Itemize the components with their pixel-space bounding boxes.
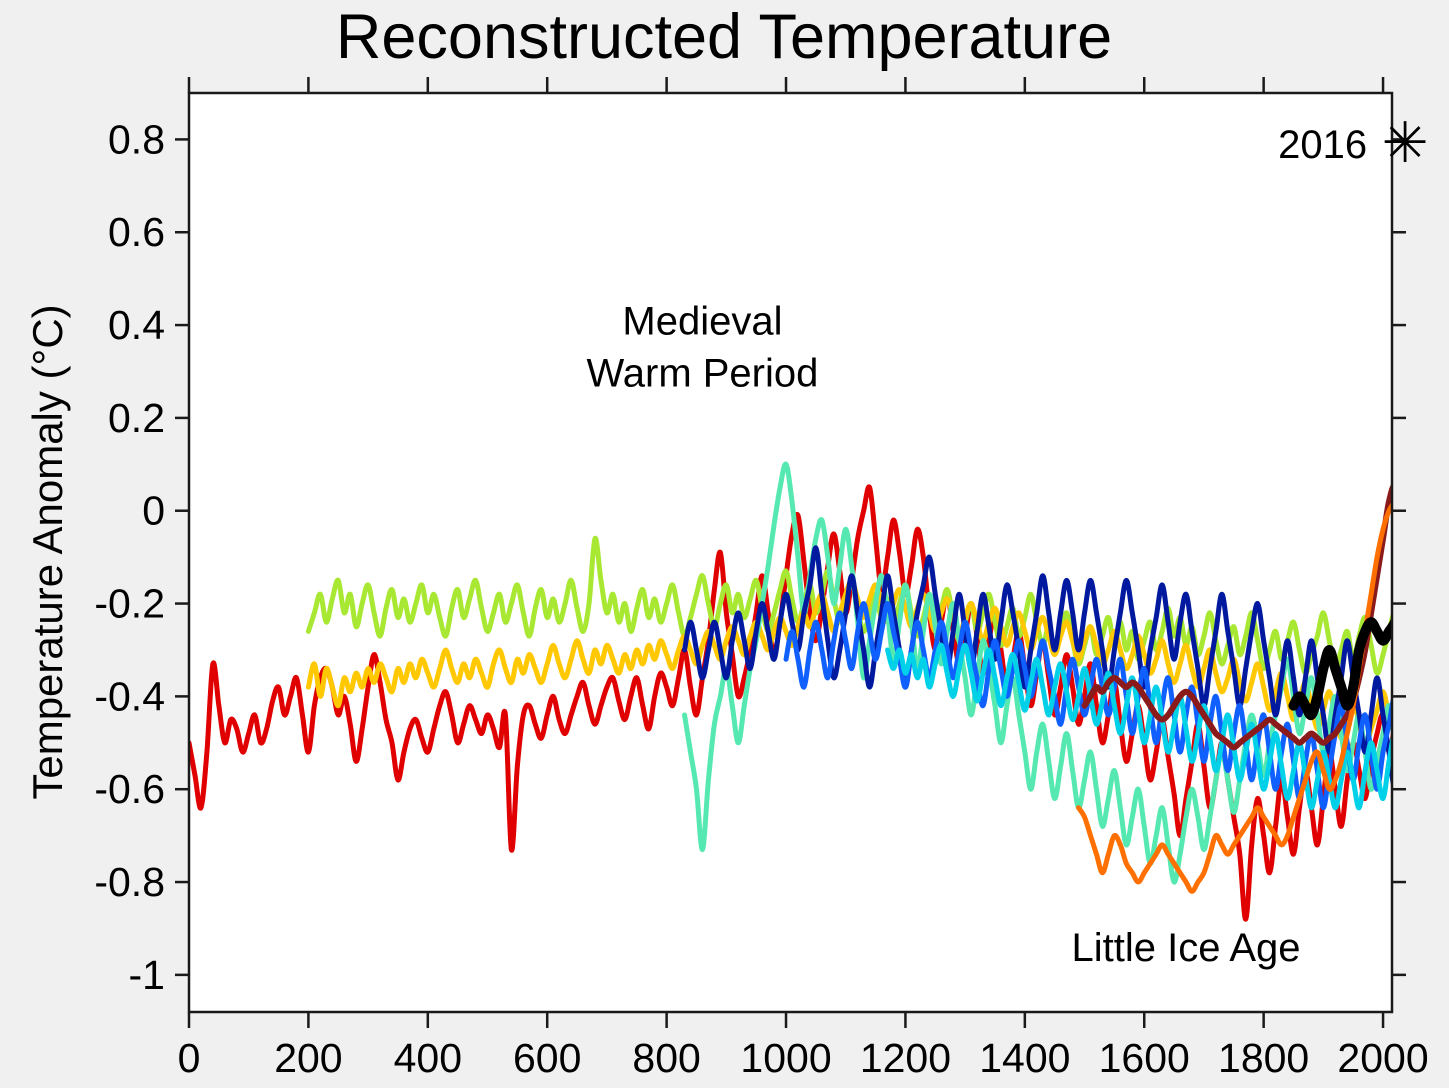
x-tick-label: 600: [513, 1035, 581, 1081]
x-tick-label: 0: [178, 1035, 201, 1081]
x-tick-label: 2000: [1337, 1035, 1428, 1081]
y-tick-label: -0.8: [94, 859, 165, 905]
y-tick-label: -0.6: [94, 766, 165, 812]
chart-canvas: Reconstructed Temperature 0.80.60.40.20-…: [0, 0, 1449, 1088]
x-tick-label: 1200: [860, 1035, 951, 1081]
x-tick-label: 200: [274, 1035, 342, 1081]
x-tick-label: 800: [632, 1035, 700, 1081]
y-tick-label: 0.2: [108, 395, 165, 441]
annotation-little-ice-age: Little Ice Age: [1072, 926, 1301, 970]
x-tick-label: 1400: [979, 1035, 1070, 1081]
x-tick-label: 1000: [740, 1035, 831, 1081]
reconstructed-temperature-chart: Reconstructed Temperature 0.80.60.40.20-…: [0, 0, 1449, 1088]
y-tick-label: 0.8: [108, 116, 165, 162]
annotation-medieval-warm-period: Medieval: [622, 299, 782, 343]
annotation-medieval-warm-period: Warm Period: [586, 351, 818, 395]
x-tick-label: 1800: [1218, 1035, 1309, 1081]
y-tick-label: -0.4: [94, 673, 165, 719]
y-tick-label: -0.2: [94, 581, 165, 627]
y-tick-label: 0.4: [108, 302, 165, 348]
x-tick-label: 400: [394, 1035, 462, 1081]
y-tick-label: 0.6: [108, 209, 165, 255]
annotation-year-2016-marker-label: 2016: [1278, 123, 1367, 167]
asterisk-icon: ✳: [1382, 111, 1429, 174]
y-tick-label: 0: [142, 488, 165, 534]
y-axis-label: Temperature Anomaly (°C): [24, 304, 71, 799]
chart-title: Reconstructed Temperature: [336, 2, 1112, 72]
y-tick-label: -1: [129, 952, 165, 998]
x-tick-label: 1600: [1099, 1035, 1190, 1081]
